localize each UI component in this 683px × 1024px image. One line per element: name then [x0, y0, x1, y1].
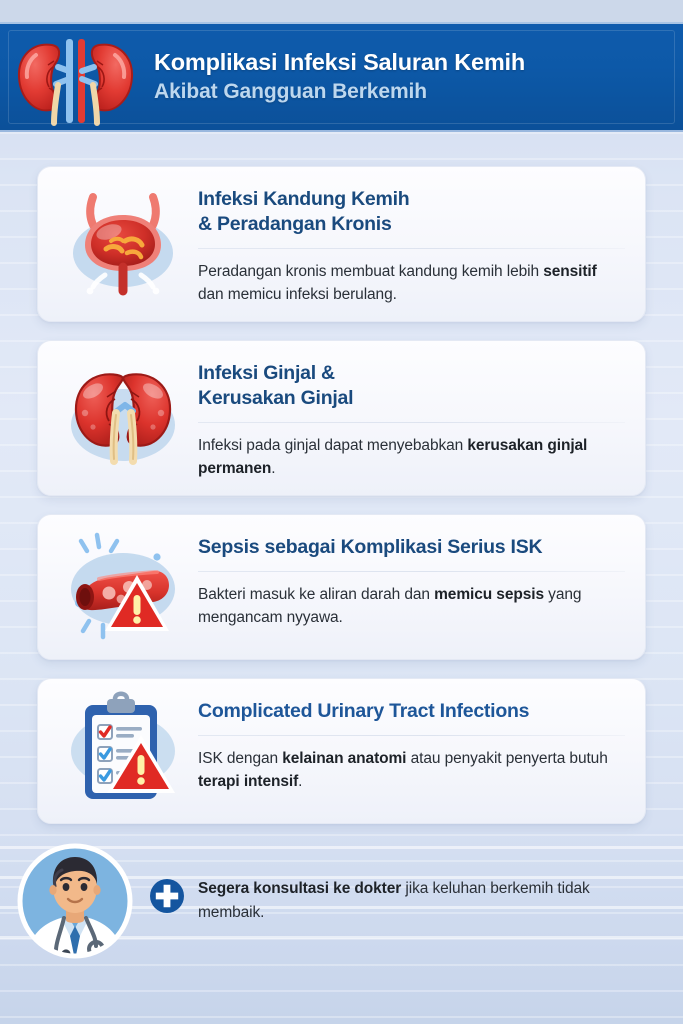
header-banner: Komplikasi Infeksi Saluran Kemih Akibat …	[0, 22, 683, 132]
header-text-block: Komplikasi Infeksi Saluran Kemih Akibat …	[150, 49, 525, 106]
desc-post: .	[298, 773, 302, 790]
kidneys-icon	[48, 353, 198, 481]
card-description: Bakteri masuk ke aliran darah dan memicu…	[198, 583, 625, 630]
card-title-line1: Infeksi Ginjal &	[198, 362, 335, 384]
desc-pre: Infeksi pada ginjal dapat menyebabkan	[198, 437, 467, 454]
card-divider	[198, 735, 625, 736]
card-divider	[198, 422, 625, 423]
footer-message: Segera konsultasi ke dokter jika keluhan…	[150, 877, 683, 924]
card-divider	[198, 571, 625, 572]
complication-card[interactable]: Sepsis sebagai Komplikasi Serius ISK Bak…	[37, 514, 646, 660]
footer-text-emphasis: Segera konsultasi ke dokter	[198, 880, 401, 897]
bladder-icon	[48, 179, 198, 307]
card-content: Infeksi Kandung Kemih & Peradangan Kroni…	[198, 179, 629, 306]
footer-cta: Segera konsultasi ke dokter jika keluhan…	[0, 826, 683, 976]
card-title-line1: Infeksi Kandung Kemih	[198, 188, 409, 210]
desc-pre: Bakteri masuk ke aliran darah dan	[198, 586, 434, 603]
desc-mid: atau penyakit penyerta butuh	[406, 750, 607, 767]
kidneys-anatomy-icon	[0, 23, 150, 131]
complication-card-list: Infeksi Kandung Kemih & Peradangan Kroni…	[37, 166, 646, 842]
desc-emphasis: kelainan anatomi	[282, 750, 406, 767]
card-title: Infeksi Kandung Kemih & Peradangan Kroni…	[198, 187, 625, 237]
desc-emphasis: memicu sepsis	[434, 586, 544, 603]
card-divider	[198, 248, 625, 249]
desc-pre: ISK dengan	[198, 750, 282, 767]
card-title: Complicated Urinary Tract Infections	[198, 699, 625, 724]
card-title-line2: Kerusakan Ginjal	[198, 387, 353, 409]
desc-post: .	[271, 460, 275, 477]
complication-card[interactable]: Complicated Urinary Tract Infections ISK…	[37, 678, 646, 824]
card-content: Complicated Urinary Tract Infections ISK…	[198, 691, 629, 793]
card-description: ISK dengan kelainan anatomi atau penyaki…	[198, 747, 625, 794]
complication-card[interactable]: Infeksi Ginjal & Kerusakan Ginjal Infeks…	[37, 340, 646, 496]
clipboard-checklist-warning-icon	[48, 691, 198, 809]
desc-post: dan memicu infeksi berulang.	[198, 286, 397, 303]
doctor-avatar-icon	[0, 842, 150, 960]
complication-card[interactable]: Infeksi Kandung Kemih & Peradangan Kroni…	[37, 166, 646, 322]
card-description: Peradangan kronis membuat kandung kemih …	[198, 260, 625, 307]
blood-vessel-warning-icon	[48, 527, 198, 645]
page-subtitle: Akibat Gangguan Berkemih	[154, 79, 525, 105]
footer-text: Segera konsultasi ke dokter jika keluhan…	[198, 877, 643, 924]
card-title: Infeksi Ginjal & Kerusakan Ginjal	[198, 361, 625, 411]
desc-emphasis: sensitif	[543, 263, 596, 280]
card-title: Sepsis sebagai Komplikasi Serius ISK	[198, 535, 625, 560]
card-title-line2: & Peradangan Kronis	[198, 213, 392, 235]
card-description: Infeksi pada ginjal dapat menyebabkan ke…	[198, 434, 625, 481]
page-title: Komplikasi Infeksi Saluran Kemih	[154, 49, 525, 77]
desc-emphasis-2: terapi intensif	[198, 773, 298, 790]
desc-pre: Peradangan kronis membuat kandung kemih …	[198, 263, 543, 280]
medical-cross-icon	[150, 879, 184, 918]
card-content: Infeksi Ginjal & Kerusakan Ginjal Infeks…	[198, 353, 629, 480]
card-content: Sepsis sebagai Komplikasi Serius ISK Bak…	[198, 527, 629, 629]
